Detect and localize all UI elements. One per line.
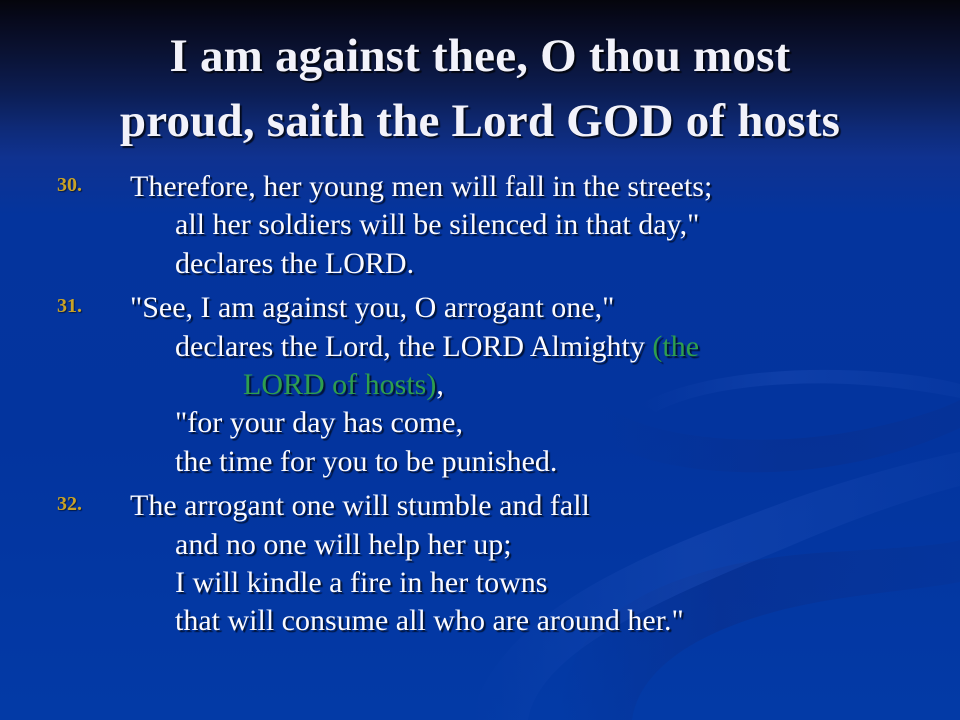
verse-number: 32. xyxy=(57,493,82,516)
verse-line-text: declares the Lord, the LORD Almighty xyxy=(175,330,652,363)
verse-line-text: , xyxy=(436,368,444,401)
verse-number: 30. xyxy=(57,174,82,197)
verse-item: 31. "See, I am against you, O arrogant o… xyxy=(0,289,960,481)
verse-list: 30. Therefore, her young men will fall i… xyxy=(0,168,960,641)
verse-line: The arrogant one will stumble and fall xyxy=(130,487,960,525)
verse-line: "for your day has come, xyxy=(130,404,960,442)
presentation-slide: I am against thee, O thou most proud, sa… xyxy=(0,0,960,720)
verse-line: and no one will help her up; xyxy=(130,526,960,564)
verse-line: declares the LORD. xyxy=(130,245,960,283)
verse-line: I will kindle a fire in her towns xyxy=(130,564,960,602)
verse-item: 30. Therefore, her young men will fall i… xyxy=(0,168,960,283)
verse-line: "See, I am against you, O arrogant one," xyxy=(130,289,960,327)
verse-line-highlight: (the xyxy=(652,330,699,363)
verse-line: Therefore, her young men will fall in th… xyxy=(130,168,960,206)
verse-item: 32. The arrogant one will stumble and fa… xyxy=(0,487,960,641)
verse-line: the time for you to be punished. xyxy=(130,443,960,481)
verse-line: that will consume all who are around her… xyxy=(130,602,960,640)
slide-title: I am against thee, O thou most proud, sa… xyxy=(0,24,960,154)
verse-line: declares the Lord, the LORD Almighty (th… xyxy=(130,328,960,366)
verse-line: LORD of hosts), xyxy=(130,366,960,404)
verse-line-highlight: LORD of hosts) xyxy=(243,368,436,401)
verse-line: all her soldiers will be silenced in tha… xyxy=(130,206,960,244)
verse-number: 31. xyxy=(57,295,82,318)
